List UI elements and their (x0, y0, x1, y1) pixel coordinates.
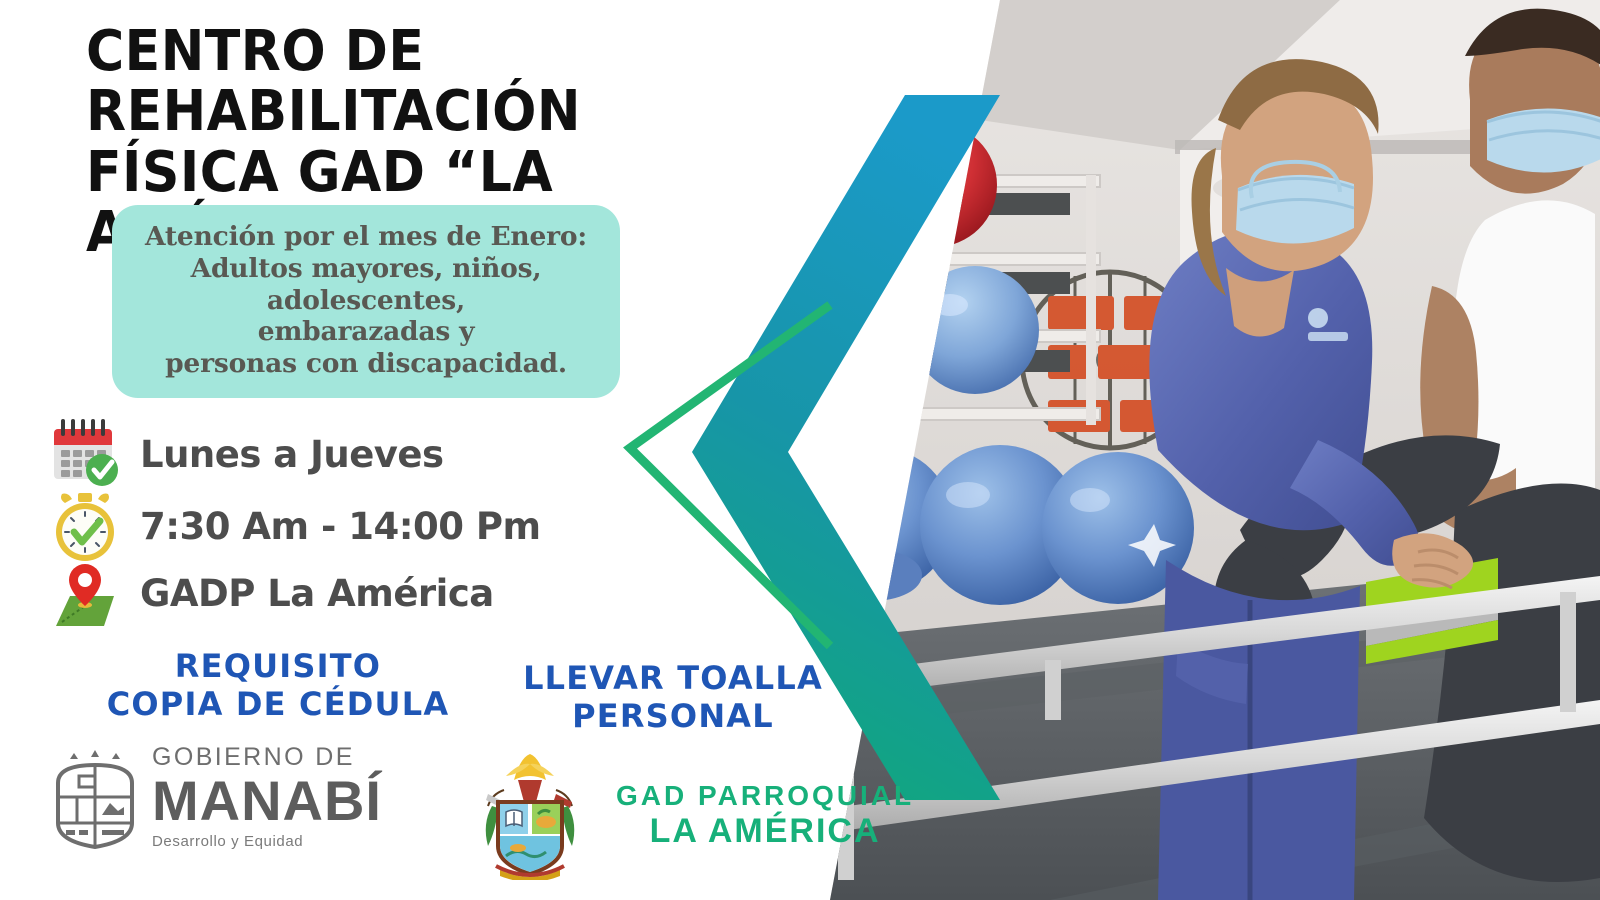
notice-line-3: adolescentes, (126, 285, 606, 317)
logo-gobierno-manabi: GOBIERNO DE MANABÍ Desarrollo y Equidad (52, 745, 382, 849)
title-line-1: CENTRO DE REHABILITACIÓN (86, 19, 581, 144)
requirement-cedula-line-2: COPIA DE CÉDULA (88, 686, 468, 724)
notice-line-2: Adultos mayores, niños, (126, 253, 606, 285)
manabi-line-3: Desarrollo y Equidad (152, 834, 382, 849)
hours-text: 7:30 Am - 14:00 Pm (140, 505, 541, 548)
logo-gad-la-america: GAD PARROQUIAL LA AMÉRICA (470, 750, 914, 880)
manabi-line-1: GOBIERNO DE (152, 745, 382, 770)
requirement-cedula: REQUISITO COPIA DE CÉDULA (88, 648, 468, 724)
notice-box: Atención por el mes de Enero: Adultos ma… (112, 205, 620, 398)
requirement-towel-line-2: PERSONAL (508, 698, 838, 736)
manabi-line-2: MANABÍ (152, 773, 382, 829)
requirement-cedula-line-1: REQUISITO (88, 648, 468, 686)
notice-line-5: personas con discapacidad. (126, 348, 606, 380)
requirement-towel: LLEVAR TOALLA PERSONAL (508, 660, 838, 736)
la-america-coat-of-arms-icon (470, 750, 590, 880)
requirement-towel-line-1: LLEVAR TOALLA (508, 660, 838, 698)
gad-line-1: GAD PARROQUIAL (616, 780, 914, 811)
stopwatch-check-icon (48, 489, 122, 563)
info-row-hours: 7:30 Am - 14:00 Pm (48, 489, 541, 563)
info-row-place: GADP La América (48, 556, 494, 630)
place-text: GADP La América (140, 572, 494, 615)
map-pin-icon (48, 556, 122, 630)
notice-line-4: embarazadas y (126, 316, 606, 348)
calendar-check-icon (48, 417, 122, 491)
manabi-shield-icon (52, 745, 138, 849)
notice-line-1: Atención por el mes de Enero: (126, 221, 606, 253)
days-text: Lunes a Jueves (140, 433, 444, 476)
poster-canvas: CENTRO DE REHABILITACIÓN FÍSICA GAD “LA … (0, 0, 1600, 900)
gad-line-2: LA AMÉRICA (616, 812, 914, 850)
info-row-days: Lunes a Jueves (48, 417, 444, 491)
